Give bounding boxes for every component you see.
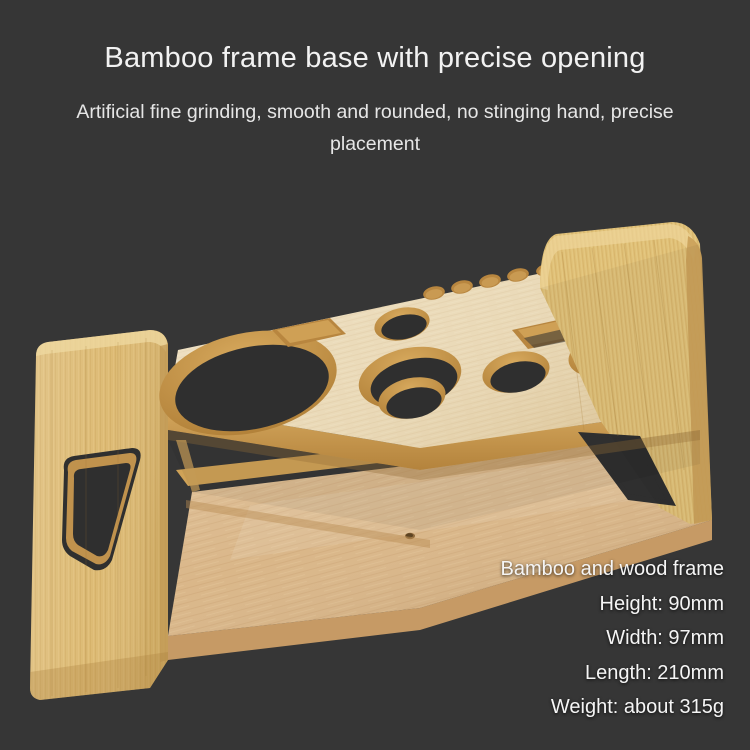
headline: Bamboo frame base with precise opening <box>0 42 750 75</box>
spec-length: Length: 210mm <box>501 656 724 691</box>
spec-list: Bamboo and wood frame Height: 90mm Width… <box>501 552 724 725</box>
spec-weight: Weight: about 315g <box>501 690 724 725</box>
spec-material: Bamboo and wood frame <box>501 552 724 587</box>
spec-width: Width: 97mm <box>501 621 724 656</box>
left-side-panel <box>30 330 168 700</box>
spec-height: Height: 90mm <box>501 587 724 622</box>
product-image-page: Bamboo frame base with precise opening A… <box>0 0 750 750</box>
subtitle: Artificial fine grinding, smooth and rou… <box>60 96 690 160</box>
